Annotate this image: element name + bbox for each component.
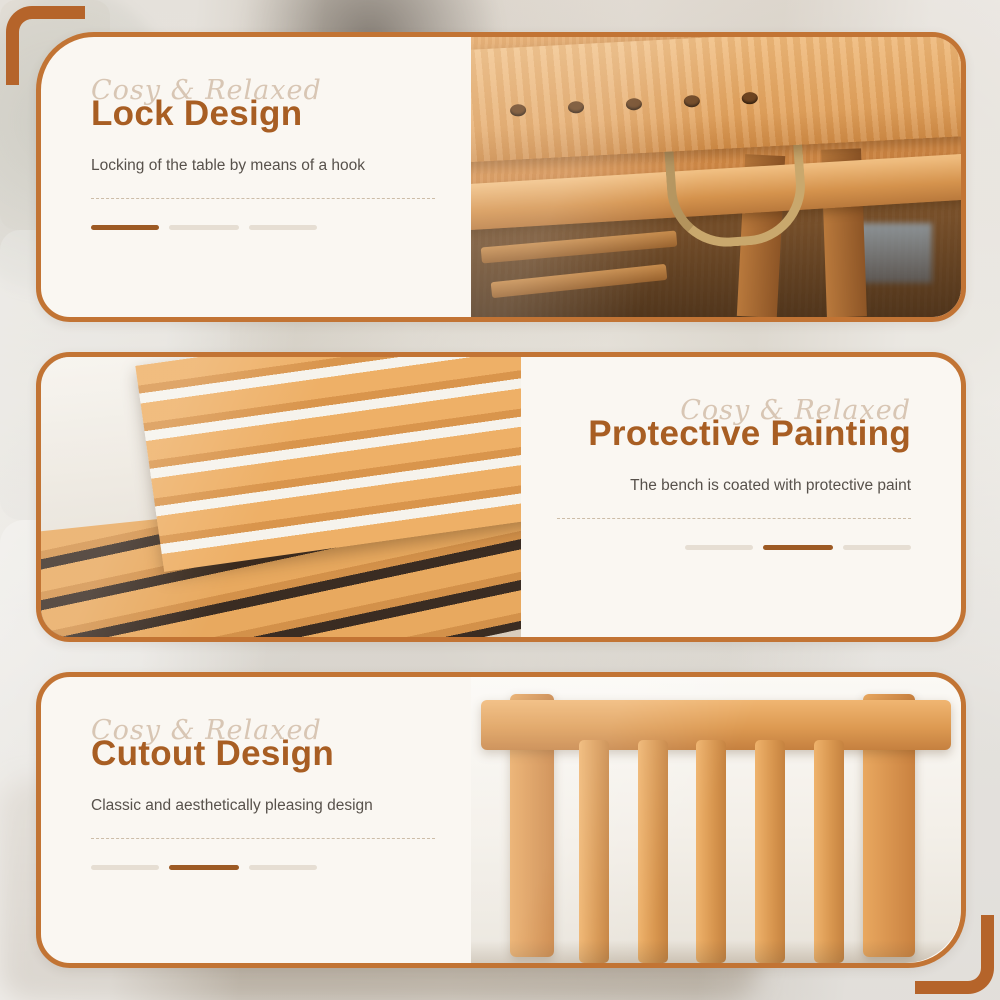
feature-image-lock-design <box>471 37 961 317</box>
corner-bracket-top-left-icon <box>6 6 85 85</box>
bench-back-slat <box>755 740 785 963</box>
feature-title: Lock Design <box>91 95 435 134</box>
progress-bars <box>91 225 435 230</box>
divider <box>91 198 435 199</box>
divider <box>557 518 911 519</box>
feature-text-cutout-design: Cosy & Relaxed Cutout Design Classic and… <box>41 677 471 963</box>
progress-bar-1 <box>685 545 753 550</box>
feature-text-protective-painting: Cosy & Relaxed Protective Painting The b… <box>521 357 961 637</box>
slat-deck <box>41 357 521 637</box>
product-feature-page: Cosy & Relaxed Lock Design Locking of th… <box>0 0 1000 1000</box>
feature-title: Protective Painting <box>557 415 911 454</box>
progress-bar-3 <box>249 865 317 870</box>
progress-bar-2 <box>169 865 239 870</box>
progress-bars <box>557 545 911 550</box>
bench-back-slat <box>638 740 668 963</box>
progress-bars <box>91 865 435 870</box>
feature-text-lock-design: Cosy & Relaxed Lock Design Locking of th… <box>41 37 471 317</box>
progress-bar-2 <box>169 225 239 230</box>
feature-description: Locking of the table by means of a hook <box>91 156 435 177</box>
feature-card-cutout-design: Cosy & Relaxed Cutout Design Classic and… <box>36 672 966 968</box>
bench-back-slat <box>579 740 609 963</box>
feature-image-protective-painting <box>41 357 521 637</box>
divider <box>91 838 435 839</box>
feature-card-lock-design: Cosy & Relaxed Lock Design Locking of th… <box>36 32 966 322</box>
feature-title: Cutout Design <box>91 735 435 774</box>
progress-bar-1 <box>91 865 159 870</box>
progress-bar-3 <box>249 225 317 230</box>
floor-shadow <box>471 940 961 963</box>
progress-bar-2 <box>763 545 833 550</box>
bench-back-slat <box>814 740 844 963</box>
progress-bar-1 <box>91 225 159 230</box>
feature-image-cutout-design <box>471 677 961 963</box>
progress-bar-3 <box>843 545 911 550</box>
feature-card-protective-painting: Cosy & Relaxed Protective Painting The b… <box>36 352 966 642</box>
feature-description: Classic and aesthetically pleasing desig… <box>91 796 435 817</box>
corner-bracket-bottom-right-icon <box>915 915 994 994</box>
bench-back-slat <box>696 740 726 963</box>
feature-description: The bench is coated with protective pain… <box>557 476 911 497</box>
